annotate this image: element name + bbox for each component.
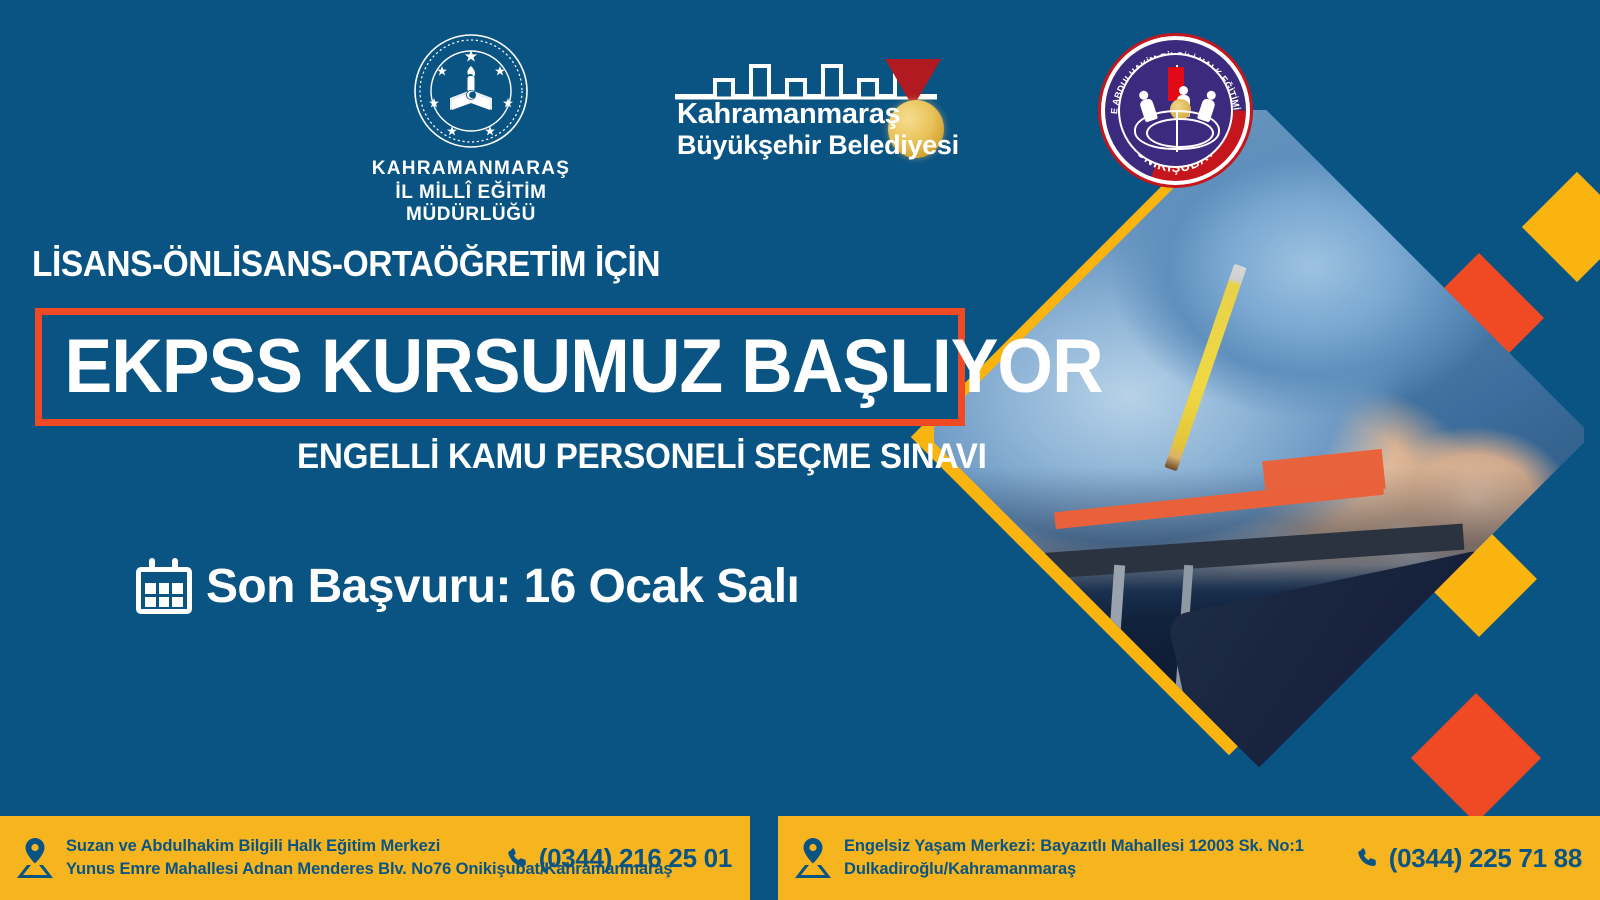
meb-line-2: İL MİLLÎ EĞİTİM MÜDÜRLÜĞÜ xyxy=(337,182,605,226)
footer-left-address: Suzan ve Abdulhakim Bilgili Halk Eğitim … xyxy=(66,835,500,882)
ministry-seal-icon xyxy=(412,32,530,150)
decorative-diamond-orange-bottom xyxy=(1411,693,1541,823)
footer-left-line-1: Suzan ve Abdulhakim Bilgili Halk Eğitim … xyxy=(66,835,500,858)
headline-subtitle: ENGELLİ KAMU PERSONELİ SEÇME SINAVI xyxy=(297,437,987,477)
map-pin-icon xyxy=(792,836,834,880)
footer-right-phone-number: (0344) 225 71 88 xyxy=(1389,843,1582,874)
footer-left-phone[interactable]: (0344) 216 25 01 xyxy=(500,843,750,874)
footer-right-address: Engelsiz Yaşam Merkezi: Bayazıtlı Mahall… xyxy=(844,835,1350,882)
municipality-line-1: Kahramanmaraş xyxy=(677,98,900,131)
globe-icon xyxy=(1134,110,1220,150)
headline-title: EKPSS KURSUMUZ BAŞLIYOR xyxy=(42,329,1103,405)
calendar-grid xyxy=(145,583,183,607)
footer-panel-right: Engelsiz Yaşam Merkezi: Bayazıtlı Mahall… xyxy=(778,816,1600,900)
logo-municipality: Kahramanmaraş Büyükşehir Belediyesi xyxy=(670,52,970,172)
calendar-icon xyxy=(136,558,192,614)
poster-canvas: KAHRAMANMARAŞ İL MİLLÎ EĞİTİM MÜDÜRLÜĞÜ … xyxy=(0,0,1600,900)
logo-education-center: SUZAN VE ABDULHAKİM BİLGİLİ HALK EĞİTİMİ… xyxy=(1098,33,1253,188)
footer-right-phone[interactable]: (0344) 225 71 88 xyxy=(1350,843,1600,874)
footer-panel-left: Suzan ve Abdulhakim Bilgili Halk Eğitim … xyxy=(0,816,750,900)
logo-bar: KAHRAMANMARAŞ İL MİLLÎ EĞİTİM MÜDÜRLÜĞÜ … xyxy=(0,0,1600,205)
footer-left-phone-number: (0344) 216 25 01 xyxy=(539,843,732,874)
footer-bar: Suzan ve Abdulhakim Bilgili Halk Eğitim … xyxy=(0,816,1600,900)
municipality-line-2: Büyükşehir Belediyesi xyxy=(677,130,959,161)
map-pin-icon xyxy=(14,836,56,880)
folder-shape xyxy=(1054,478,1384,529)
photo-content xyxy=(934,110,1584,760)
logo-ministry-of-education: KAHRAMANMARAŞ İL MİLLÎ EĞİTİM MÜDÜRLÜĞÜ xyxy=(337,32,605,226)
deadline-row: Son Başvuru: 16 Ocak Salı xyxy=(136,558,799,614)
footer-left-line-2: Yunus Emre Mahallesi Adnan Menderes Blv.… xyxy=(66,858,500,881)
phone-icon xyxy=(1356,846,1380,870)
emblem-core xyxy=(1118,53,1233,168)
meb-line-1: KAHRAMANMARAŞ xyxy=(337,158,605,180)
pencil-shape xyxy=(1164,264,1246,472)
footer-right-line-2: Dulkadiroğlu/Kahramanmaraş xyxy=(844,858,1350,881)
phone-icon xyxy=(506,846,530,870)
deadline-text: Son Başvuru: 16 Ocak Salı xyxy=(206,559,799,614)
footer-right-line-1: Engelsiz Yaşam Merkezi: Bayazıtlı Mahall… xyxy=(844,835,1350,858)
headline-title-box: EKPSS KURSUMUZ BAŞLIYOR xyxy=(35,308,965,426)
headline-kicker: LİSANS-ÖNLİSANS-ORTAÖĞRETİM İÇİN xyxy=(32,243,660,285)
